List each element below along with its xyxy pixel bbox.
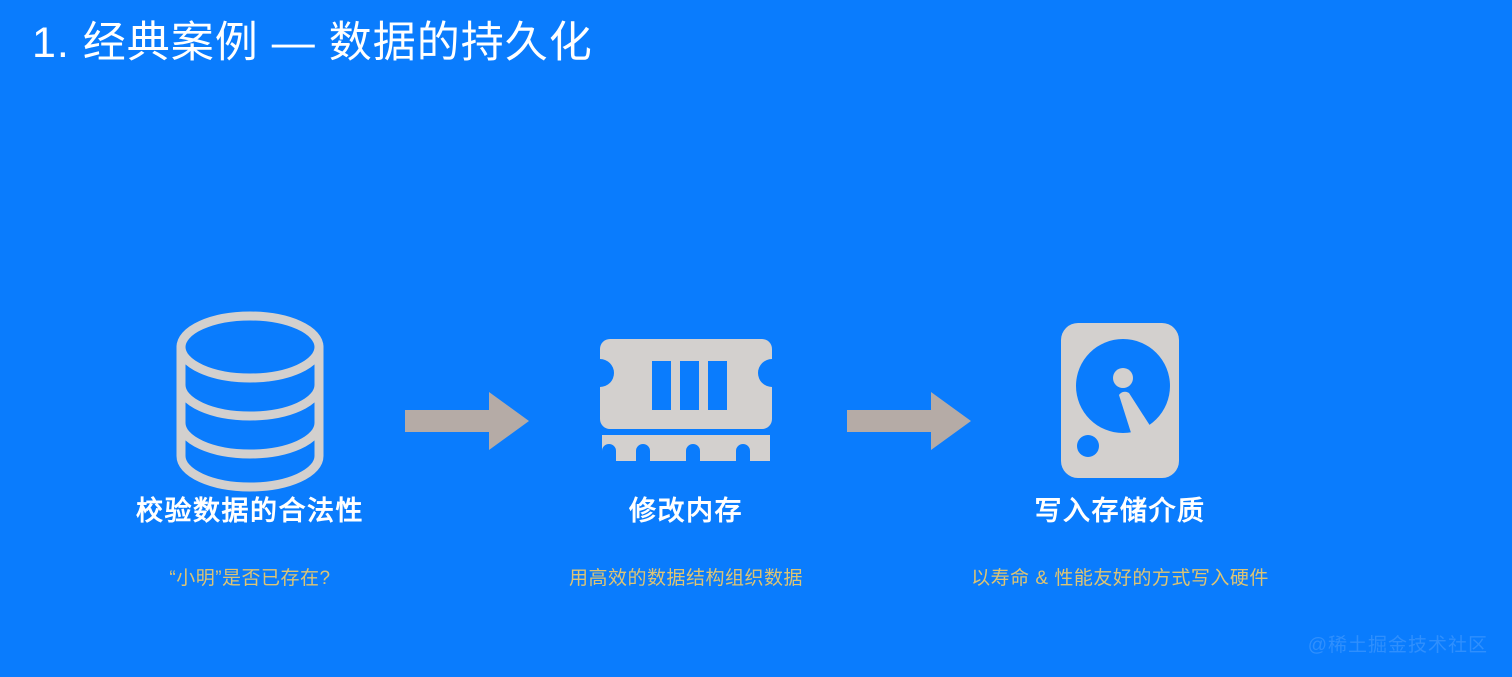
hard-disk-icon: [1061, 323, 1179, 478]
step-subtitle-2: 用高效的数据结构组织数据: [456, 568, 916, 591]
caption-column-3: 写入存储介质 以寿命 & 性能友好的方式写入硬件: [890, 495, 1350, 591]
watermark: @稀土掘金技术社区: [1308, 630, 1488, 657]
step-title-2: 修改内存: [456, 495, 916, 527]
memory-ram-icon: [600, 339, 772, 461]
flow-arrow-2: [847, 392, 977, 452]
flow-step-3: [970, 300, 1270, 500]
step-title-1: 校验数据的合法性: [20, 495, 480, 527]
arrow-right-icon: [405, 392, 535, 450]
step-subtitle-1: “小明”是否已存在?: [20, 568, 480, 591]
page-title: 1. 经典案例 — 数据的持久化: [32, 16, 593, 72]
flow-step-2: [536, 300, 836, 500]
step-title-3: 写入存储介质: [890, 495, 1350, 527]
arrow-right-icon: [847, 392, 977, 450]
database-icon: [174, 309, 326, 491]
caption-column-1: 校验数据的合法性 “小明”是否已存在?: [20, 495, 480, 591]
flow-arrow-1: [405, 392, 535, 452]
flow-captions: 校验数据的合法性 “小明”是否已存在? 修改内存 用高效的数据结构组织数据 写入…: [0, 495, 1512, 625]
presentation-slide: 1. 经典案例 — 数据的持久化: [0, 0, 1512, 677]
flow-step-1: [100, 300, 400, 500]
step-subtitle-3: 以寿命 & 性能友好的方式写入硬件: [890, 568, 1350, 591]
caption-column-2: 修改内存 用高效的数据结构组织数据: [456, 495, 916, 591]
